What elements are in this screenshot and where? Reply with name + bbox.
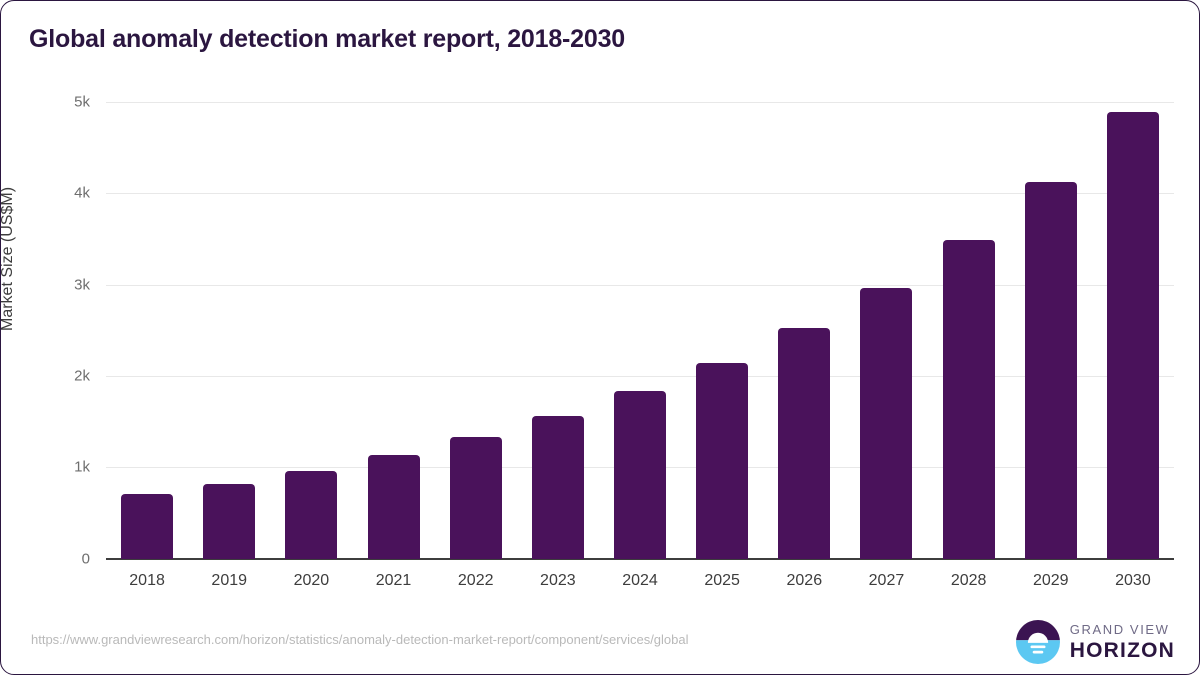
x-tick-label-2026: 2026 [787,572,823,590]
bars-layer [106,102,1174,559]
bar-2023[interactable] [532,416,584,559]
bar-2029[interactable] [1025,182,1077,559]
x-tick-label-2024: 2024 [622,572,658,590]
brand-logo: GRAND VIEW HORIZON [1016,620,1175,664]
y-tick-label-0: 0 [30,551,90,568]
y-tick-label-5k: 5k [30,94,90,111]
x-tick-label-2018: 2018 [129,572,165,590]
x-tick-label-2028: 2028 [951,572,987,590]
bar-2019[interactable] [203,484,255,559]
chart-title: Global anomaly detection market report, … [29,25,625,54]
y-tick-label-4k: 4k [30,185,90,202]
bar-2022[interactable] [450,437,502,559]
x-tick-label-2023: 2023 [540,572,576,590]
x-tick-label-2029: 2029 [1033,572,1069,590]
bar-2024[interactable] [614,391,666,559]
x-tick-label-2020: 2020 [294,572,330,590]
x-tick-label-2030: 2030 [1115,572,1151,590]
y-tick-label-2k: 2k [30,368,90,385]
logo-text: GRAND VIEW HORIZON [1070,623,1175,661]
x-tick-label-2025: 2025 [704,572,740,590]
bar-2026[interactable] [778,328,830,559]
bar-2018[interactable] [121,494,173,559]
x-tick-label-2022: 2022 [458,572,494,590]
bar-2027[interactable] [860,288,912,559]
y-tick-label-3k: 3k [30,277,90,294]
x-tick-label-2019: 2019 [211,572,247,590]
bar-2028[interactable] [943,240,995,559]
logo-text-bottom: HORIZON [1070,640,1175,661]
bar-2021[interactable] [368,455,420,559]
chart-card: Global anomaly detection market report, … [0,0,1200,675]
horizon-logo-icon [1016,620,1060,664]
x-tick-label-2027: 2027 [869,572,905,590]
logo-text-top: GRAND VIEW [1070,623,1175,636]
bar-2020[interactable] [285,471,337,559]
source-url[interactable]: https://www.grandviewresearch.com/horizo… [31,632,689,647]
y-tick-label-1k: 1k [30,459,90,476]
y-axis-title: Market Size (US$M) [0,187,17,331]
bar-2030[interactable] [1107,112,1159,559]
x-tick-label-2021: 2021 [376,572,412,590]
bar-2025[interactable] [696,363,748,560]
